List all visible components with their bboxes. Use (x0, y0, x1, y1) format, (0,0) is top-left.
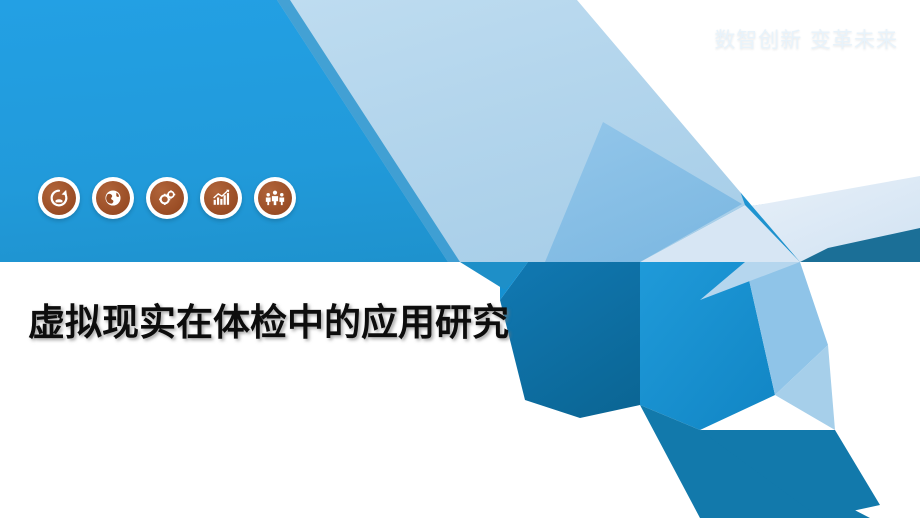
icon-strip (38, 177, 296, 219)
polygon-decoration-layer (0, 0, 920, 518)
slide-canvas: 数智创新 变革未来 (0, 0, 920, 518)
people-group-icon[interactable] (254, 177, 296, 219)
refresh-cycle-icon[interactable] (38, 177, 80, 219)
page-title: 虚拟现实在体检中的应用研究 (28, 296, 528, 350)
globe-icon[interactable] (92, 177, 134, 219)
tagline-text: 数智创新 变革未来 (714, 28, 898, 53)
bar-chart-icon[interactable] (200, 177, 242, 219)
gears-icon[interactable] (146, 177, 188, 219)
